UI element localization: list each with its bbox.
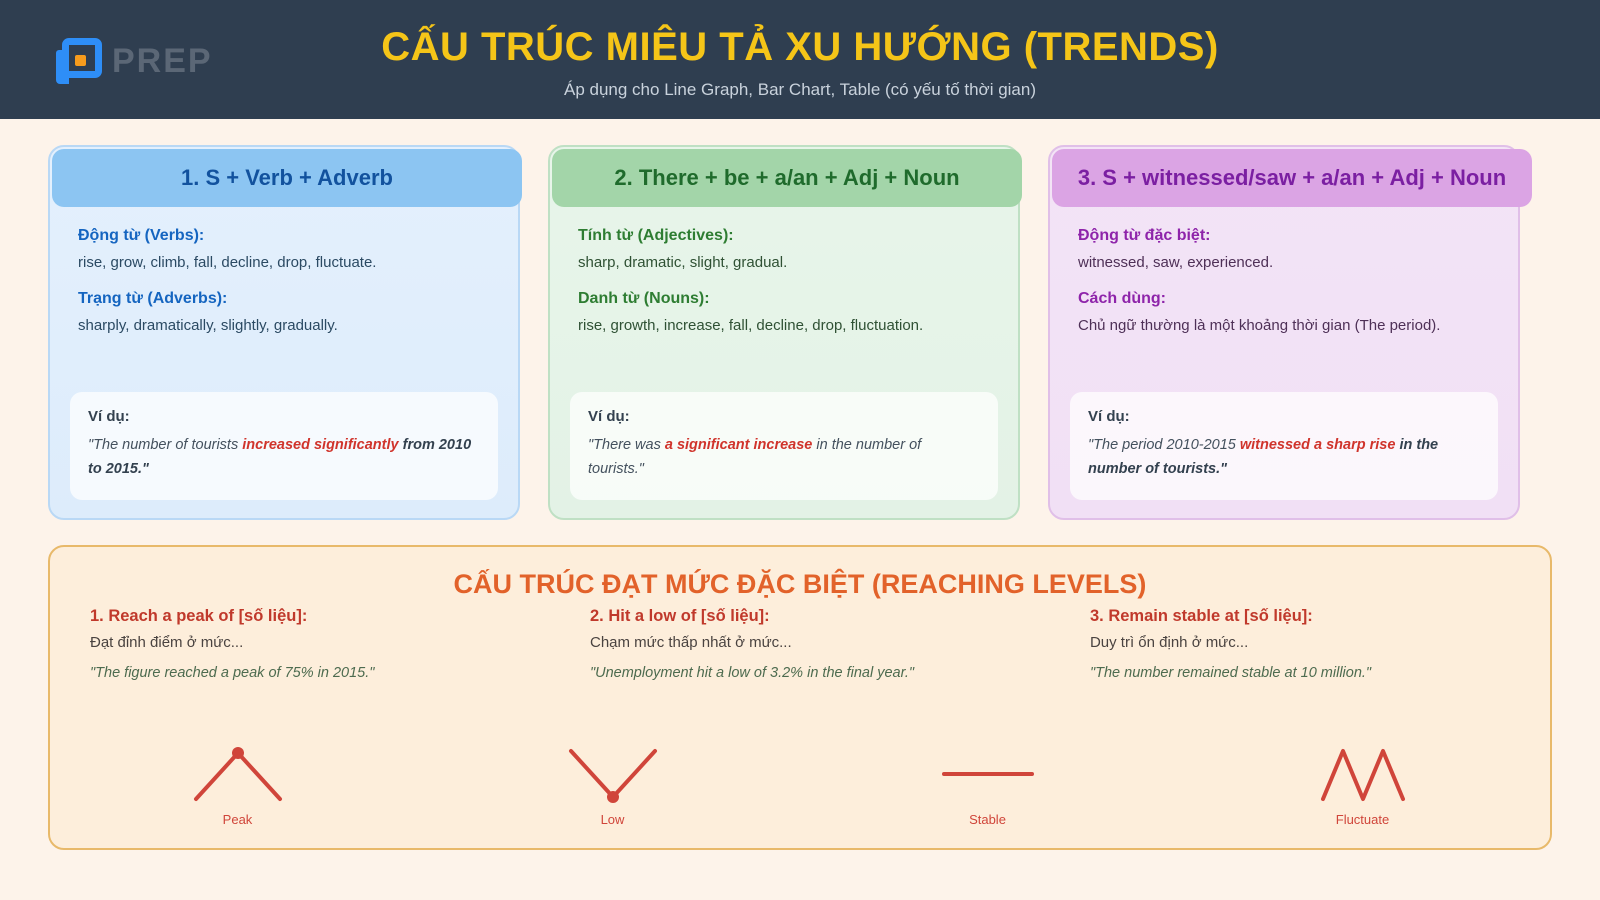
panel-quote: "The figure reached a peak of 75% in 201… [90, 665, 510, 681]
panel-heading: 1. Reach a peak of [số liệu]: [90, 607, 510, 626]
card1-text-verbs: rise, grow, climb, fall, decline, drop, … [78, 254, 490, 271]
trend-item-stable: Stable [800, 742, 1175, 827]
panel-heading: 3. Remain stable at [số liệu]: [1090, 607, 1510, 626]
panel-quote: "Unemployment hit a low of 3.2% in the f… [590, 665, 1010, 681]
quote-highlight: increased significantly [242, 437, 398, 453]
panel-desc: Duy trì ổn định ở mức... [1090, 634, 1510, 651]
example-quote: "The period 2010-2015 witnessed a sharp … [1088, 433, 1480, 482]
stable-icon [938, 742, 1038, 806]
page-header: PREP CẤU TRÚC MIÊU TẢ XU HƯỚNG (TRENDS) … [0, 0, 1600, 119]
card1-label-verbs: Động từ (Verbs): [78, 227, 490, 245]
panel-quote: "The number remained stable at 10 millio… [1090, 665, 1510, 681]
trend-item-low: Low [425, 742, 800, 827]
panel-column-low: 2. Hit a low of [số liệu]: Chạm mức thấp… [550, 607, 1050, 681]
structure-cards: Động từ (Verbs): rise, grow, climb, fall… [48, 145, 1552, 520]
panel-desc: Chạm mức thấp nhất ở mức... [590, 634, 1010, 651]
panel-desc: Đạt đỉnh điểm ở mức... [90, 634, 510, 651]
quote-pre: "The period 2010-2015 [1088, 437, 1240, 453]
card2-example-box: Ví dụ: "There was a significant increase… [570, 392, 998, 500]
card3-label-verbs: Động từ đặc biệt: [1078, 227, 1490, 245]
quote-post: " [1220, 461, 1227, 477]
example-title: Ví dụ: [588, 408, 980, 425]
card1-label-adverbs: Trạng từ (Adverbs): [78, 290, 490, 308]
card1-header: 1. S + Verb + Adverb [52, 149, 522, 207]
quote-pre: "There was [588, 437, 665, 453]
card3-text-usage: Chủ ngữ thường là một khoảng thời gian (… [1078, 317, 1490, 334]
example-title: Ví dụ: [1088, 408, 1480, 425]
icon-caption: Peak [223, 812, 253, 827]
panel-columns: 1. Reach a peak of [số liệu]: Đạt đỉnh đ… [50, 607, 1550, 681]
panel-heading: 2. Hit a low of [số liệu]: [590, 607, 1010, 626]
example-quote: "The number of tourists increased signif… [88, 433, 480, 482]
low-icon [563, 742, 663, 806]
card2-text-adjectives: sharp, dramatic, slight, gradual. [578, 254, 990, 271]
card-verb-adverb: Động từ (Verbs): rise, grow, climb, fall… [48, 145, 520, 520]
card2-text-nouns: rise, growth, increase, fall, decline, d… [578, 317, 990, 334]
panel-column-peak: 1. Reach a peak of [số liệu]: Đạt đỉnh đ… [50, 607, 550, 681]
card3-text-verbs: witnessed, saw, experienced. [1078, 254, 1490, 271]
reaching-levels-panel: CẤU TRÚC ĐẠT MỨC ĐẶC BIỆT (REACHING LEVE… [48, 545, 1552, 850]
card3-label-usage: Cách dùng: [1078, 290, 1490, 308]
card1-example-box: Ví dụ: "The number of tourists increased… [70, 392, 498, 500]
icon-caption: Fluctuate [1336, 812, 1389, 827]
card2-label-nouns: Danh từ (Nouns): [578, 290, 990, 308]
quote-highlight: witnessed a sharp rise [1240, 437, 1396, 453]
card-witnessed-saw: Động từ đặc biệt: witnessed, saw, experi… [1048, 145, 1520, 520]
peak-icon [188, 742, 288, 806]
card-there-be: Tính từ (Adjectives): sharp, dramatic, s… [548, 145, 1020, 520]
quote-post: " [142, 461, 149, 477]
trend-icon-row: Peak Low Stable [50, 742, 1550, 827]
quote-pre: "The number of tourists [88, 437, 242, 453]
trend-item-peak: Peak [50, 742, 425, 827]
card2-header: 2. There + be + a/an + Adj + Noun [552, 149, 1022, 207]
page-subtitle: Áp dụng cho Line Graph, Bar Chart, Table… [0, 80, 1600, 100]
trend-item-fluctuate: Fluctuate [1175, 742, 1550, 827]
fluctuate-icon [1313, 742, 1413, 806]
example-quote: "There was a significant increase in the… [588, 433, 980, 482]
card3-header: 3. S + witnessed/saw + a/an + Adj + Noun [1052, 149, 1532, 207]
icon-caption: Stable [969, 812, 1006, 827]
example-title: Ví dụ: [88, 408, 480, 425]
card1-text-adverbs: sharply, dramatically, slightly, gradual… [78, 317, 490, 334]
icon-caption: Low [601, 812, 625, 827]
panel-title: CẤU TRÚC ĐẠT MỨC ĐẶC BIỆT (REACHING LEVE… [50, 569, 1550, 600]
card3-example-box: Ví dụ: "The period 2010-2015 witnessed a… [1070, 392, 1498, 500]
page-title: CẤU TRÚC MIÊU TẢ XU HƯỚNG (TRENDS) [0, 25, 1600, 70]
panel-column-stable: 3. Remain stable at [số liệu]: Duy trì ổ… [1050, 607, 1550, 681]
quote-highlight: a significant increase [665, 437, 812, 453]
infographic-page: PREP CẤU TRÚC MIÊU TẢ XU HƯỚNG (TRENDS) … [0, 0, 1600, 900]
card2-label-adjectives: Tính từ (Adjectives): [578, 227, 990, 245]
